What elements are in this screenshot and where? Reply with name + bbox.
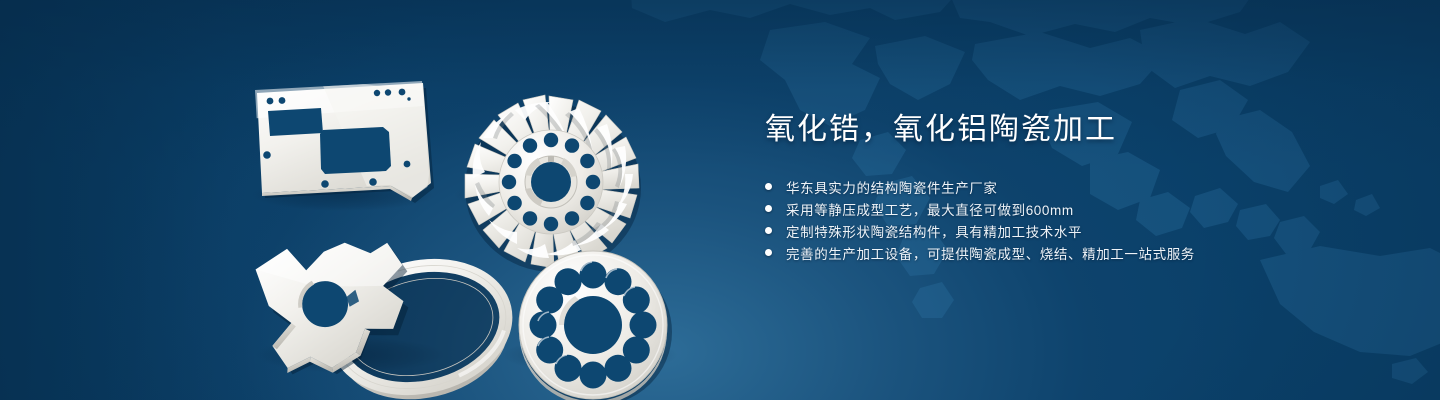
bullet-dot-icon (765, 205, 772, 212)
list-item: 华东具实力的结构陶瓷件生产厂家 (765, 176, 1385, 197)
page-title: 氧化锆，氧化铝陶瓷加工 (765, 112, 1385, 148)
feature-text: 采用等静压成型工艺，最大直径可做到600mm (786, 199, 1074, 219)
marketing-copy: 氧化锆，氧化铝陶瓷加工 华东具实力的结构陶瓷件生产厂家 采用等静压成型工艺，最大… (765, 112, 1385, 264)
feature-list: 华东具实力的结构陶瓷件生产厂家 采用等静压成型工艺，最大直径可做到600mm 定… (765, 176, 1385, 263)
ceramic-mounting-plate (245, 75, 440, 205)
product-photo-group (225, 35, 725, 390)
list-item: 采用等静压成型工艺，最大直径可做到600mm (765, 198, 1385, 219)
hero-banner: 氧化锆，氧化铝陶瓷加工 华东具实力的结构陶瓷件生产厂家 采用等静压成型工艺，最大… (0, 0, 1440, 400)
feature-text: 定制特殊形状陶瓷结构件，具有精加工技术水平 (786, 221, 1082, 241)
bullet-dot-icon (765, 249, 772, 256)
bullet-dot-icon (765, 227, 772, 234)
list-item: 定制特殊形状陶瓷结构件，具有精加工技术水平 (765, 220, 1385, 241)
ceramic-perforated-disc (519, 251, 672, 400)
ceramic-impeller-wheel (465, 95, 641, 272)
bullet-dot-icon (765, 183, 772, 190)
feature-text: 完善的生产加工设备，可提供陶瓷成型、烧结、精加工一站式服务 (786, 243, 1195, 263)
list-item: 完善的生产加工设备，可提供陶瓷成型、烧结、精加工一站式服务 (765, 242, 1385, 263)
feature-text: 华东具实力的结构陶瓷件生产厂家 (786, 177, 998, 197)
